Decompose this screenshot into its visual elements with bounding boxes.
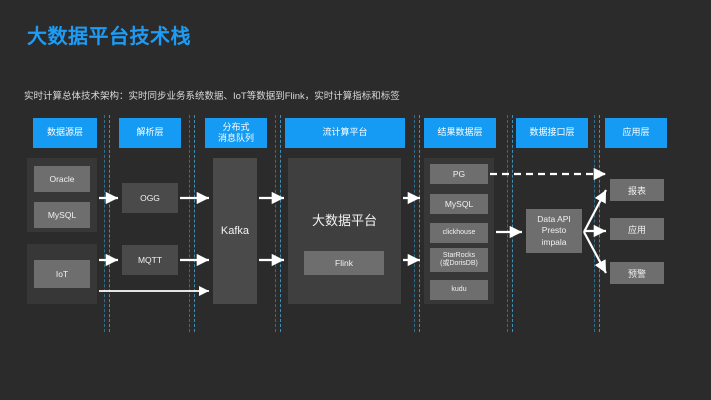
node-mysql-source[interactable]: MySQL xyxy=(34,202,90,228)
node-mqtt[interactable]: MQTT xyxy=(122,245,178,275)
slide-canvas: 大数据平台技术栈 实时计算总体技术架构：实时同步业务系统数据、IoT等数据到Fl… xyxy=(0,0,711,400)
column-header-mq-line2: 消息队列 xyxy=(218,133,254,144)
column-header-stream[interactable]: 流计算平台 xyxy=(285,118,405,148)
column-separator-1 xyxy=(104,115,111,332)
node-kudu[interactable]: kudu xyxy=(430,280,488,300)
data-api-line3: impala xyxy=(541,237,566,248)
column-header-mq-line1: 分布式 xyxy=(222,122,249,133)
column-separator-2 xyxy=(189,115,196,332)
page-subtitle: 实时计算总体技术架构：实时同步业务系统数据、IoT等数据到Flink，实时计算指… xyxy=(24,88,400,102)
node-data-api[interactable]: Data API Presto impala xyxy=(526,209,582,253)
node-starrocks-line2: (或DorisDB) xyxy=(440,260,478,268)
node-mysql-result[interactable]: MySQL xyxy=(430,194,488,214)
column-header-application[interactable]: 应用层 xyxy=(605,118,667,148)
big-data-platform-title: 大数据平台 xyxy=(288,210,401,229)
page-title: 大数据平台技术栈 xyxy=(27,20,191,49)
node-clickhouse[interactable]: clickhouse xyxy=(430,223,488,243)
column-separator-4 xyxy=(414,115,421,332)
node-alert[interactable]: 预警 xyxy=(610,262,664,284)
node-iot[interactable]: IoT xyxy=(34,260,90,288)
node-application[interactable]: 应用 xyxy=(610,218,664,240)
big-data-platform-box[interactable]: 大数据平台 xyxy=(288,158,401,304)
column-header-data-api[interactable]: 数据接口层 xyxy=(516,118,588,148)
column-header-parse[interactable]: 解析层 xyxy=(119,118,181,148)
node-starrocks-line1: StarRocks xyxy=(443,252,475,260)
node-flink[interactable]: Flink xyxy=(304,251,384,275)
column-separator-6 xyxy=(594,115,601,332)
node-starrocks[interactable]: StarRocks (或DorisDB) xyxy=(430,248,488,272)
column-header-data-source[interactable]: 数据源层 xyxy=(33,118,97,148)
column-header-mq[interactable]: 分布式 消息队列 xyxy=(205,118,267,148)
data-api-line1: Data API xyxy=(537,214,571,225)
node-kafka[interactable]: Kafka xyxy=(213,158,257,304)
node-oracle[interactable]: Oracle xyxy=(34,166,90,192)
node-pg[interactable]: PG xyxy=(430,164,488,184)
data-api-line2: Presto xyxy=(542,225,567,236)
column-separator-5 xyxy=(507,115,514,332)
column-header-result-data[interactable]: 结果数据层 xyxy=(424,118,496,148)
node-report[interactable]: 报表 xyxy=(610,179,664,201)
node-ogg[interactable]: OGG xyxy=(122,183,178,213)
column-separator-3 xyxy=(275,115,282,332)
